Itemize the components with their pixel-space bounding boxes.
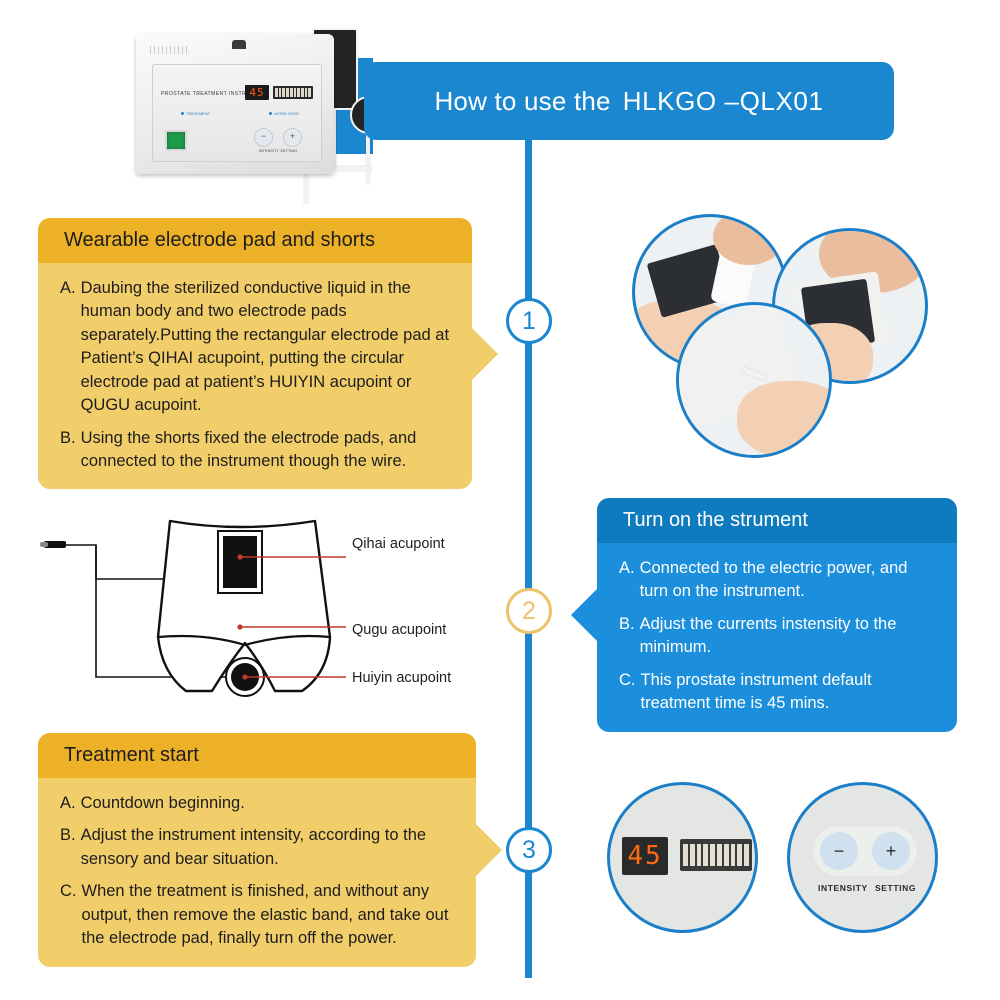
- step-3-card: Treatment start A. Countdown beginning. …: [38, 733, 476, 967]
- step-1-heading: Wearable electrode pad and shorts: [38, 218, 472, 263]
- step-3-body: A. Countdown beginning. B. Adjust the in…: [38, 778, 476, 967]
- step-1-card: Wearable electrode pad and shorts A. Dau…: [38, 218, 472, 489]
- bullet-key: B.: [619, 613, 640, 660]
- device-photo: PROSTATE TREATMENT INSTRUMENT 45 TREATME…: [136, 20, 372, 205]
- bullet-text: Countdown beginning.: [81, 792, 456, 815]
- closeup-plus-button[interactable]: +: [872, 832, 910, 870]
- intensity-button-pill: − +: [812, 825, 918, 877]
- instrument-body: PROSTATE TREATMENT INSTRUMENT 45 TREATME…: [136, 34, 334, 174]
- label-qihai-acupoint: Qihai acupoint: [352, 536, 445, 552]
- bullet-text: Daubing the sterilized conductive liquid…: [81, 277, 452, 418]
- closeup-minus-button[interactable]: −: [820, 832, 858, 870]
- list-item: A. Countdown beginning.: [60, 792, 456, 815]
- instrument-indicator-row: TREATMENT WORK OVER: [181, 111, 299, 116]
- instrument-vents: [150, 46, 190, 54]
- step-number-1: 1: [522, 307, 536, 336]
- closeup-label-setting: SETTING: [875, 883, 916, 893]
- list-item: B. Adjust the instrument intensity, acco…: [60, 824, 456, 871]
- step-3-pointer: [476, 824, 502, 876]
- bullet-key: C.: [619, 669, 641, 716]
- page-title: How to use the: [434, 86, 610, 117]
- list-item: C. This prostate instrument default trea…: [619, 669, 937, 716]
- product-model: HLKGO –QLX01: [623, 86, 824, 117]
- list-item: B. Adjust the currents instensity to the…: [619, 613, 937, 660]
- bullet-text: Adjust the instrument intensity, accordi…: [81, 824, 456, 871]
- closeup-led-bar: [680, 839, 752, 871]
- label-huiyin-acupoint: Huiyin acupoint: [352, 670, 451, 686]
- bullet-text: Using the shorts fixed the electrode pad…: [81, 427, 452, 474]
- bullet-text: Connected to the electric power, and tur…: [640, 557, 937, 604]
- list-item: B. Using the shorts fixed the electrode …: [60, 427, 452, 474]
- closeup-display-photo: 45: [607, 782, 758, 933]
- bullet-text: Adjust the currents instensity to the mi…: [640, 613, 937, 660]
- bullet-text: When the treatment is finished, and with…: [82, 880, 457, 950]
- closeup-buttons-photo: − + INTENSITY SETTING: [787, 782, 938, 933]
- step-3-heading: Treatment start: [38, 733, 476, 778]
- closeup-timer-display: 45: [622, 837, 668, 875]
- step-2-body: A. Connected to the electric power, and …: [597, 543, 957, 732]
- step-1-photo-cluster: [632, 214, 922, 464]
- page-title-banner: How to use the HLKGO –QLX01: [364, 62, 894, 140]
- step-1-pointer: [472, 328, 498, 380]
- bullet-key: C.: [60, 880, 82, 950]
- step-number-3: 3: [522, 836, 536, 865]
- electrode-wire-drop: [304, 170, 308, 204]
- instrument-button-caption: INTENSITY SETTING: [247, 149, 309, 153]
- step-marker-2: 2: [506, 588, 552, 634]
- instrument-led-bar: [273, 86, 313, 99]
- bullet-key: A.: [60, 792, 81, 815]
- bullet-key: A.: [619, 557, 640, 604]
- step-2-card: Turn on the strument A. Connected to the…: [597, 498, 957, 732]
- bullet-key: B.: [60, 824, 81, 871]
- step-marker-1: 1: [506, 298, 552, 344]
- instrument-power-switch[interactable]: [165, 130, 187, 151]
- photo-plug-cable: [676, 302, 832, 458]
- indicator-work-over: WORK OVER: [269, 111, 299, 116]
- step-number-2: 2: [522, 597, 536, 626]
- bullet-key: B.: [60, 427, 81, 474]
- infographic-canvas: PROSTATE TREATMENT INSTRUMENT 45 TREATME…: [0, 0, 1000, 1000]
- step-2-pointer: [571, 589, 597, 641]
- list-item: A. Daubing the sterilized conductive liq…: [60, 277, 452, 418]
- instrument-plus-button[interactable]: +: [283, 128, 302, 147]
- instrument-minus-button[interactable]: −: [254, 128, 273, 147]
- instrument-front-panel: PROSTATE TREATMENT INSTRUMENT 45 TREATME…: [152, 64, 322, 162]
- instrument-knob: [232, 40, 246, 49]
- bullet-key: A.: [60, 277, 81, 418]
- list-item: C. When the treatment is finished, and w…: [60, 880, 456, 950]
- label-qugu-acupoint: Qugu acupoint: [352, 622, 446, 638]
- list-item: A. Connected to the electric power, and …: [619, 557, 937, 604]
- closeup-label-intensity: INTENSITY: [818, 883, 868, 893]
- indicator-treatment: TREATMENT: [181, 111, 210, 116]
- step-marker-3: 3: [506, 827, 552, 873]
- bullet-text: This prostate instrument default treatme…: [641, 669, 938, 716]
- instrument-timer-display: 45: [245, 85, 269, 100]
- step-1-body: A. Daubing the sterilized conductive liq…: [38, 263, 472, 489]
- instrument-intensity-controls: − + INTENSITY SETTING: [247, 128, 309, 153]
- step-2-heading: Turn on the strument: [597, 498, 957, 543]
